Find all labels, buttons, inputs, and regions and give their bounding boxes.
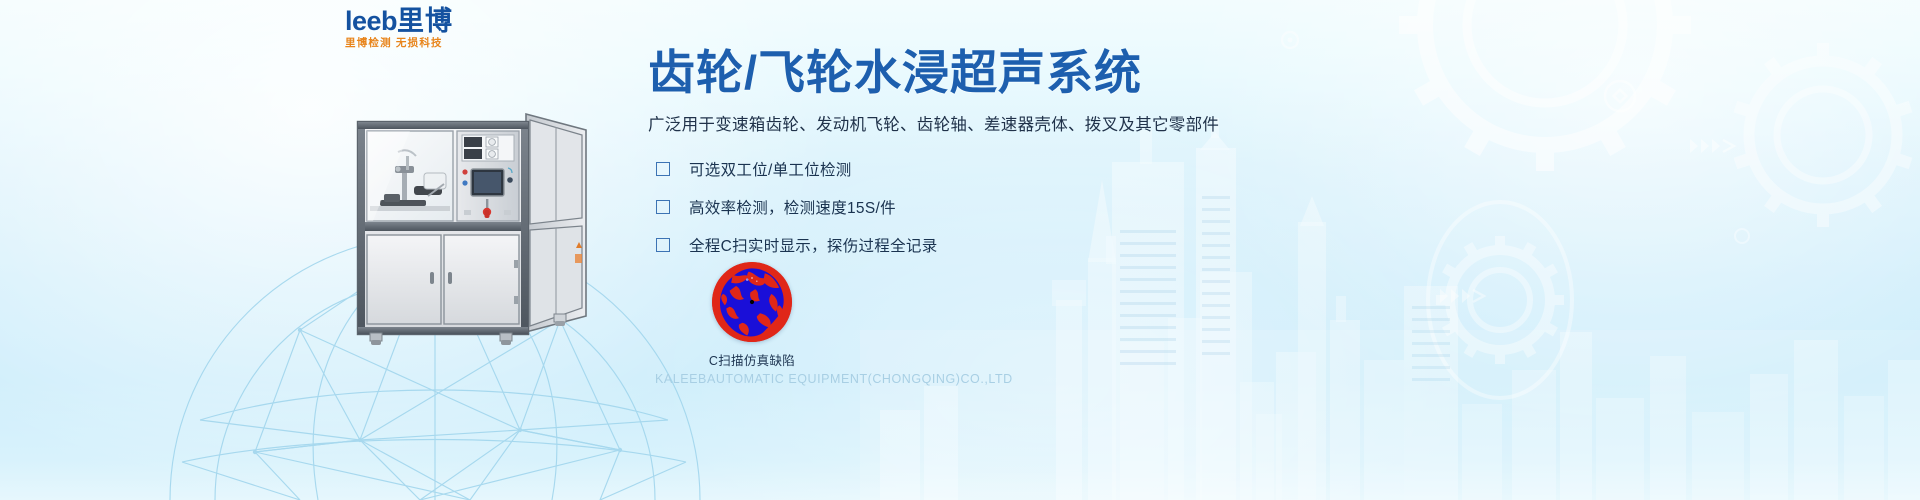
- cscan-sample: C扫描仿真缺陷: [672, 262, 832, 369]
- company-name: KALEEBAUTOMATIC EQUIPMENT(CHONGQING)CO.,…: [655, 372, 1013, 386]
- cscan-caption: C扫描仿真缺陷: [672, 350, 832, 369]
- checkbox-empty-icon[interactable]: [656, 238, 670, 252]
- checkbox-empty-icon[interactable]: [656, 162, 670, 176]
- dot-circle-icon: [1735, 229, 1749, 243]
- arrow-chevrons-icon: [1690, 139, 1734, 153]
- brand-logo-wordmark: leeb里博: [345, 6, 525, 36]
- gear-outline-icon: [1734, 43, 1913, 227]
- cscan-defect-map: [712, 262, 792, 342]
- target-circle-icon: [1605, 81, 1635, 111]
- cscan-image: [712, 262, 792, 342]
- brand-logo-latin: leeb: [345, 6, 397, 36]
- feature-list: 可选双工位/单工位检测 高效率检测，检测速度15S/件 全程C扫实时显示，探伤过…: [648, 153, 1268, 261]
- hero-copy: 齿轮/飞轮水浸超声系统 广泛用于变速箱齿轮、发动机飞轮、齿轮轴、差速器壳体、拨叉…: [648, 44, 1268, 267]
- feature-label: 高效率检测，检测速度15S/件: [689, 196, 896, 218]
- brand-logo-tagline: 里博检测 无损科技: [345, 37, 525, 50]
- brand-logo-cn: 里博: [397, 6, 453, 36]
- list-item[interactable]: 可选双工位/单工位检测: [648, 153, 1268, 185]
- gear-outline-icon: [1399, 0, 1691, 171]
- ultrasonic-immersion-machine-photo: [340, 100, 600, 350]
- machine-viewing-window: [367, 131, 453, 221]
- list-item[interactable]: 高效率检测，检测速度15S/件: [648, 191, 1268, 223]
- feature-label: 可选双工位/单工位检测: [689, 158, 852, 180]
- machine-side-body: [526, 114, 586, 332]
- brand-logo[interactable]: leeb里博 里博检测 无损科技: [345, 6, 525, 50]
- machine-control-panel: [457, 131, 519, 221]
- checkbox-empty-icon[interactable]: [656, 200, 670, 214]
- promo-banner: leeb里博 里博检测 无损科技: [0, 0, 1920, 500]
- page-title: 齿轮/飞轮水浸超声系统: [648, 44, 1268, 102]
- feature-label: 全程C扫实时显示，探伤过程全记录: [689, 234, 938, 256]
- dot-circle-icon: [1282, 32, 1298, 48]
- hero-subtitle: 广泛用于变速箱齿轮、发动机飞轮、齿轮轴、差速器壳体、拨叉及其它零部件: [648, 114, 1268, 136]
- list-item[interactable]: 全程C扫实时显示，探伤过程全记录: [648, 229, 1268, 261]
